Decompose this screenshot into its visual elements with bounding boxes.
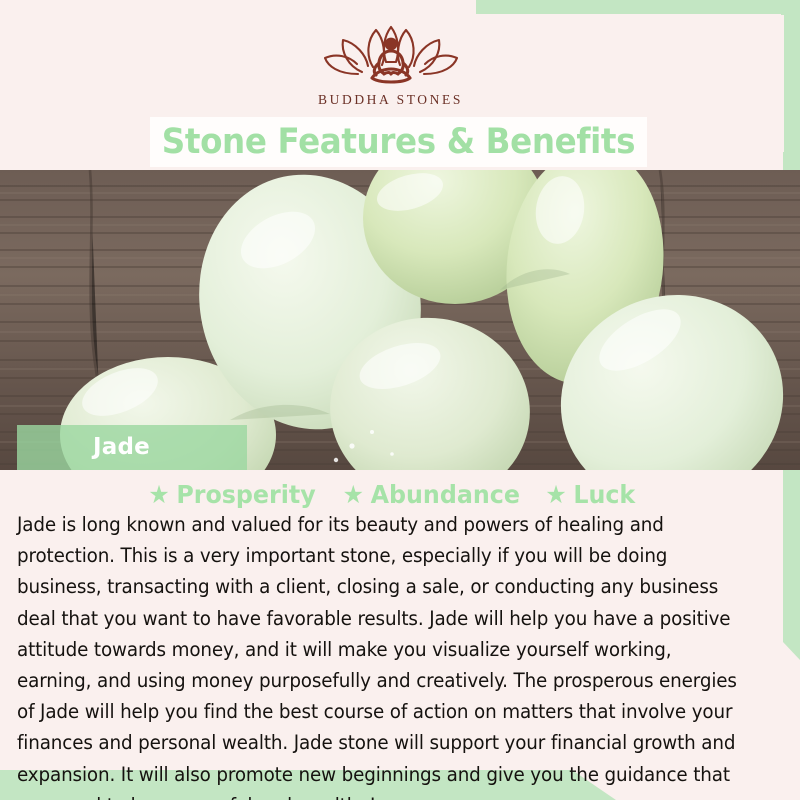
benefit-label: Prosperity — [176, 482, 315, 507]
brand-wordmark: BUDDHA STONES — [318, 92, 463, 108]
decor-green-top-right — [476, 0, 800, 15]
benefit-item-abundance: ★ Abundance — [343, 482, 520, 507]
benefit-item-prosperity: ★ Prosperity — [148, 482, 315, 507]
benefit-label: Luck — [573, 482, 635, 507]
star-icon: ★ — [148, 482, 169, 507]
brand-logo: BUDDHA STONES — [0, 22, 781, 117]
decor-green-right-edge — [784, 0, 800, 152]
stone-name-label: Jade — [93, 436, 150, 459]
stone-description: Jade is long known and valued for its be… — [17, 509, 750, 800]
benefits-row: ★ Prosperity ★ Abundance ★ Luck — [0, 477, 781, 511]
infographic-page: BUDDHA STONES Stone Features & Benefits — [0, 0, 800, 800]
stone-name-ribbon: Jade — [17, 425, 247, 470]
benefit-label: Abundance — [371, 482, 520, 507]
star-icon: ★ — [545, 482, 566, 507]
page-title: Stone Features & Benefits — [162, 125, 635, 160]
star-icon: ★ — [343, 482, 364, 507]
benefit-item-luck: ★ Luck — [545, 482, 635, 507]
lotus-meditation-icon — [318, 22, 464, 88]
title-band: Stone Features & Benefits — [150, 117, 647, 167]
